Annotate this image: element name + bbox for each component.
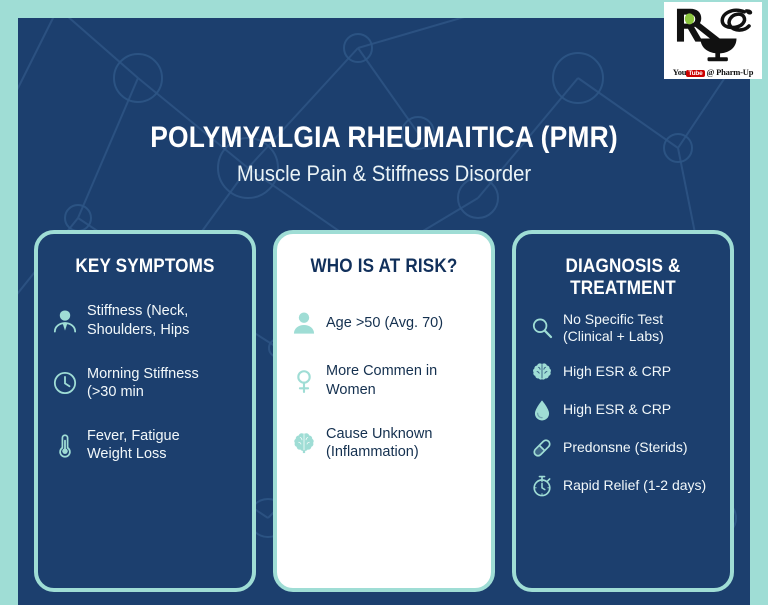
list-item-text: More Commen in Women [326,362,437,398]
stopwatch-icon [530,474,554,498]
list-item-text: High ESR & CRP [563,363,671,381]
list-item: Stiffness (Neck, Shoulders, Hips [52,302,238,338]
magnifier-icon [530,316,554,340]
page-title: POLYMYALGIA RHEUMAITICA (PMR) [62,122,706,154]
droplet-icon [530,398,554,422]
female-icon [291,368,317,394]
list-item: Rapid Relief (1-2 days) [530,474,716,498]
list-item: Morning Stiffness (>30 min [52,365,238,401]
person-icon [52,308,78,334]
brand-logo[interactable]: YouTube @ Pharm-Up [664,2,762,79]
list-item: Age >50 (Avg. 70) [291,310,477,336]
infographic-root: POLYMYALGIA RHEUMAITICA (PMR) Muscle Pai… [0,0,768,605]
clock-icon [52,370,78,396]
list-item-text: High ESR & CRP [563,401,671,419]
brain-icon [530,360,554,384]
logo-caption: YouTube @ Pharm-Up [664,67,762,77]
list-item: No Specific Test (Clinical + Labs) [530,311,716,346]
youtube-badge: Tube [686,70,704,77]
brain-icon [291,430,317,456]
card-heading-diagnosis-and-treatment: DIAGNOSIS & TREATMENT [539,256,706,301]
item-list-key-symptoms: Stiffness (Neck, Shoulders, Hips Morning… [52,302,238,463]
list-item-text: Age >50 (Avg. 70) [326,314,443,332]
list-item: Cause Unknown (Inflammation) [291,425,477,461]
logo-caption-suffix: @ Pharm-Up [707,67,754,77]
card-heading-who-is-at-risk: WHO IS AT RISK? [300,256,467,278]
capsule-icon [530,436,554,460]
list-item-text: Fever, Fatigue Weight Loss [87,427,180,463]
list-item-text: Morning Stiffness (>30 min [87,365,199,401]
person-icon [291,310,317,336]
list-item: Predonsne (Sterids) [530,436,716,460]
list-item-text: Rapid Relief (1-2 days) [563,477,706,495]
list-item-text: Cause Unknown (Inflammation) [326,425,432,461]
logo-caption-prefix: You [673,67,687,77]
rx-caduceus-logo-icon [666,4,760,62]
thermometer-icon [52,432,78,458]
list-item-text: No Specific Test (Clinical + Labs) [563,311,664,346]
card-heading-key-symptoms: KEY SYMPTOMS [61,256,228,278]
list-item: High ESR & CRP [530,398,716,422]
list-item-text: Stiffness (Neck, Shoulders, Hips [87,302,189,338]
page-subtitle: Muscle Pain & Stiffness Disorder [47,162,720,186]
list-item: More Commen in Women [291,362,477,398]
infographic-panel: POLYMYALGIA RHEUMAITICA (PMR) Muscle Pai… [18,18,750,605]
card-key-symptoms: KEY SYMPTOMS Stiffness (Neck, Shoulders,… [34,230,256,592]
title-block: POLYMYALGIA RHEUMAITICA (PMR) Muscle Pai… [18,122,750,186]
card-who-is-at-risk: WHO IS AT RISK? Age >50 (Avg. 70) [273,230,495,592]
card-diagnosis-and-treatment: DIAGNOSIS & TREATMENT No Specific Test (… [512,230,734,592]
item-list-diagnosis-and-treatment: No Specific Test (Clinical + Labs) High … [530,311,716,498]
cards-row: KEY SYMPTOMS Stiffness (Neck, Shoulders,… [34,230,734,592]
item-list-who-is-at-risk: Age >50 (Avg. 70) More Commen in Women [291,310,477,461]
list-item-text: Predonsne (Sterids) [563,439,688,457]
list-item: High ESR & CRP [530,360,716,384]
list-item: Fever, Fatigue Weight Loss [52,427,238,463]
